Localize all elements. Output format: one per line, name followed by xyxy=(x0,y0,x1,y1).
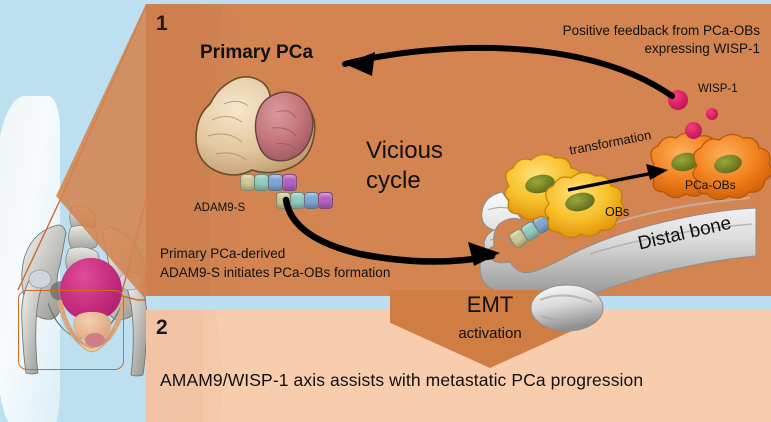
figure-root: 1 Primary PCa Positive feedback fro xyxy=(0,0,771,422)
panel-2-number: 2 xyxy=(156,316,168,340)
bone-fragment xyxy=(528,282,606,336)
bottom-banner-text: AMAM9/WISP-1 axis assists with metastati… xyxy=(160,370,760,391)
